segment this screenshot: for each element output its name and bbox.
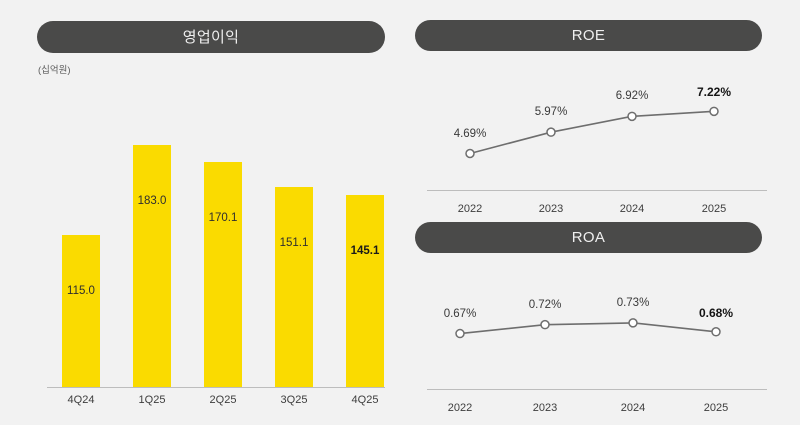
roa-point-0: [456, 330, 464, 338]
roa-value-1: 0.72%: [510, 299, 580, 311]
roe-title: ROE: [572, 28, 605, 43]
bar-3: [275, 187, 313, 387]
roa-value-3: 0.68%: [681, 306, 751, 320]
bar-1: [133, 145, 171, 387]
bar-category-2: 2Q25: [193, 394, 253, 406]
roa-axis-line: [427, 389, 767, 390]
roa-title-pill: ROA: [415, 222, 762, 253]
roe-value-1: 5.97%: [516, 106, 586, 118]
roa-value-0: 0.67%: [425, 308, 495, 320]
bar-value-1: 183.0: [133, 195, 171, 207]
roa-value-2: 0.73%: [598, 297, 668, 309]
roe-line-path: [470, 111, 714, 153]
roe-axis-line: [427, 190, 767, 191]
bar-chart-axis-line: [47, 387, 385, 388]
roe-point-1: [547, 128, 555, 136]
roe-line-graphic: [415, 60, 785, 220]
roa-chart-panel: 0.67% 0.72% 0.73% 0.68% 2022 2023 2024 2…: [415, 262, 785, 422]
roe-title-pill: ROE: [415, 20, 762, 51]
roe-value-2: 6.92%: [597, 90, 667, 102]
roe-point-0: [466, 150, 474, 158]
roa-category-2: 2024: [598, 402, 668, 414]
roa-category-0: 2022: [425, 402, 495, 414]
bar-category-3: 3Q25: [264, 394, 324, 406]
operating-profit-unit-label: (십억원): [38, 62, 71, 76]
bar-category-4: 4Q25: [335, 394, 395, 406]
roa-line-path: [460, 323, 716, 334]
roe-value-0: 4.69%: [435, 128, 505, 140]
roa-category-3: 2025: [681, 402, 751, 414]
roa-line-graphic: [415, 262, 785, 422]
roa-category-1: 2023: [510, 402, 580, 414]
bar-value-4: 145.1: [346, 245, 384, 257]
roe-chart-panel: 4.69% 5.97% 6.92% 7.22% 2022 2023 2024 2…: [415, 60, 785, 220]
bar-4: [346, 195, 384, 387]
roe-category-1: 2023: [516, 203, 586, 215]
bar-value-0: 115.0: [62, 285, 100, 297]
operating-profit-title-pill: 영업이익: [37, 21, 385, 53]
roe-point-3: [710, 107, 718, 115]
roe-category-2: 2024: [597, 203, 667, 215]
operating-profit-title: 영업이익: [183, 30, 239, 45]
roe-category-3: 2025: [679, 203, 749, 215]
roe-value-3: 7.22%: [679, 85, 749, 99]
bar-category-1: 1Q25: [122, 394, 182, 406]
roe-point-2: [628, 112, 636, 120]
bar-value-2: 170.1: [204, 212, 242, 224]
operating-profit-panel: 영업이익 (십억원) 115.0 183.0 170.1 151.1 145.1…: [0, 0, 400, 425]
roa-point-1: [541, 321, 549, 329]
roa-point-3: [712, 328, 720, 336]
roe-category-0: 2022: [435, 203, 505, 215]
bar-0: [62, 235, 100, 387]
bar-value-3: 151.1: [275, 237, 313, 249]
roa-point-2: [629, 319, 637, 327]
bar-category-0: 4Q24: [51, 394, 111, 406]
roa-title: ROA: [572, 230, 605, 245]
bar-2: [204, 162, 242, 387]
